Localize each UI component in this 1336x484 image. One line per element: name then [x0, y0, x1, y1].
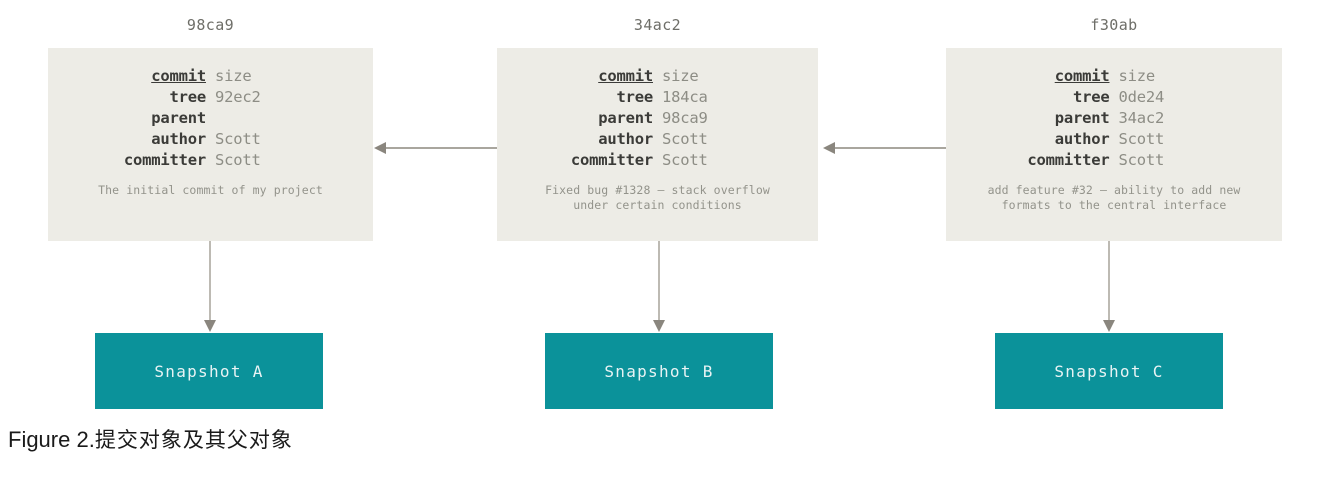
- field-key-parent: parent: [998, 108, 1110, 129]
- field-key-tree: tree: [94, 87, 206, 108]
- field-key-parent: parent: [541, 108, 653, 129]
- commit-message: add feature #32 – ability to add new for…: [954, 183, 1274, 213]
- figure-caption-prefix: Figure 2.: [8, 427, 95, 452]
- commit-field-row: committer Scott: [48, 150, 373, 171]
- commit-field-row: commit size: [48, 66, 373, 87]
- commit-box-98ca9: 98ca9 commit size tree 92ec2 parent auth…: [48, 48, 373, 241]
- arrow-head-down-icon: [1103, 320, 1115, 332]
- snapshot-label: Snapshot A: [154, 362, 263, 381]
- field-value-committer: Scott: [1110, 150, 1231, 171]
- field-value-tree: 184ca: [653, 87, 774, 108]
- snapshot-label: Snapshot C: [1054, 362, 1163, 381]
- commit-box-34ac2: 34ac2 commit size tree 184ca parent 98ca…: [497, 48, 818, 241]
- field-value-parent: 34ac2: [1110, 108, 1231, 129]
- snapshot-box-b: Snapshot B: [545, 333, 773, 409]
- arrow-head-down-icon: [204, 320, 216, 332]
- figure-caption-text: 提交对象及其父对象: [95, 428, 293, 452]
- commit-field-row: tree 0de24: [946, 87, 1282, 108]
- field-value-commit: size: [653, 66, 774, 87]
- parent-arrow-34ac2-to-98ca9: [385, 147, 497, 149]
- commit-field-row: parent 34ac2: [946, 108, 1282, 129]
- field-value-committer: Scott: [206, 150, 327, 171]
- field-value-committer: Scott: [653, 150, 774, 171]
- field-key-commit: commit: [998, 66, 1110, 87]
- commit-parent-diagram: 98ca9 commit size tree 92ec2 parent auth…: [0, 0, 1336, 484]
- field-value-author: Scott: [653, 129, 774, 150]
- commit-field-list: commit size tree 92ec2 parent author Sco…: [48, 66, 373, 171]
- field-key-tree: tree: [998, 87, 1110, 108]
- field-value-tree: 0de24: [1110, 87, 1231, 108]
- field-value-commit: size: [1110, 66, 1231, 87]
- commit-field-row: parent: [48, 108, 373, 129]
- field-value-tree: 92ec2: [206, 87, 327, 108]
- field-value-parent: 98ca9: [653, 108, 774, 129]
- arrow-head-left-icon: [823, 142, 835, 154]
- commit-hash-label: 98ca9: [48, 16, 373, 34]
- arrow-head-down-icon: [653, 320, 665, 332]
- snapshot-box-a: Snapshot A: [95, 333, 323, 409]
- field-key-committer: committer: [94, 150, 206, 171]
- field-key-commit: commit: [541, 66, 653, 87]
- commit-field-row: author Scott: [946, 129, 1282, 150]
- commit-field-list: commit size tree 0de24 parent 34ac2 auth…: [946, 66, 1282, 171]
- field-key-committer: committer: [541, 150, 653, 171]
- snapshot-label: Snapshot B: [604, 362, 713, 381]
- commit-field-row: commit size: [497, 66, 818, 87]
- commit-field-row: committer Scott: [497, 150, 818, 171]
- snapshot-box-c: Snapshot C: [995, 333, 1223, 409]
- field-key-author: author: [541, 129, 653, 150]
- parent-arrow-f30ab-to-34ac2: [834, 147, 946, 149]
- field-value-author: Scott: [1110, 129, 1231, 150]
- field-value-commit: size: [206, 66, 327, 87]
- snapshot-arrow-98ca9: [209, 241, 211, 321]
- commit-hash-label: f30ab: [946, 16, 1282, 34]
- arrow-head-left-icon: [374, 142, 386, 154]
- field-key-committer: committer: [998, 150, 1110, 171]
- commit-box-f30ab: f30ab commit size tree 0de24 parent 34ac…: [946, 48, 1282, 241]
- commit-message: Fixed bug #1328 – stack overflow under c…: [505, 183, 810, 213]
- field-key-author: author: [998, 129, 1110, 150]
- commit-field-row: author Scott: [497, 129, 818, 150]
- field-key-commit: commit: [94, 66, 206, 87]
- commit-field-row: tree 92ec2: [48, 87, 373, 108]
- snapshot-arrow-34ac2: [658, 241, 660, 321]
- commit-field-row: commit size: [946, 66, 1282, 87]
- commit-hash-label: 34ac2: [497, 16, 818, 34]
- snapshot-arrow-f30ab: [1108, 241, 1110, 321]
- field-key-tree: tree: [541, 87, 653, 108]
- field-key-parent: parent: [94, 108, 206, 129]
- commit-field-row: author Scott: [48, 129, 373, 150]
- commit-message: The initial commit of my project: [56, 183, 365, 198]
- figure-caption: Figure 2.提交对象及其父对象: [8, 424, 293, 454]
- commit-field-row: parent 98ca9: [497, 108, 818, 129]
- commit-field-row: tree 184ca: [497, 87, 818, 108]
- field-key-author: author: [94, 129, 206, 150]
- field-value-author: Scott: [206, 129, 327, 150]
- commit-field-row: committer Scott: [946, 150, 1282, 171]
- commit-field-list: commit size tree 184ca parent 98ca9 auth…: [497, 66, 818, 171]
